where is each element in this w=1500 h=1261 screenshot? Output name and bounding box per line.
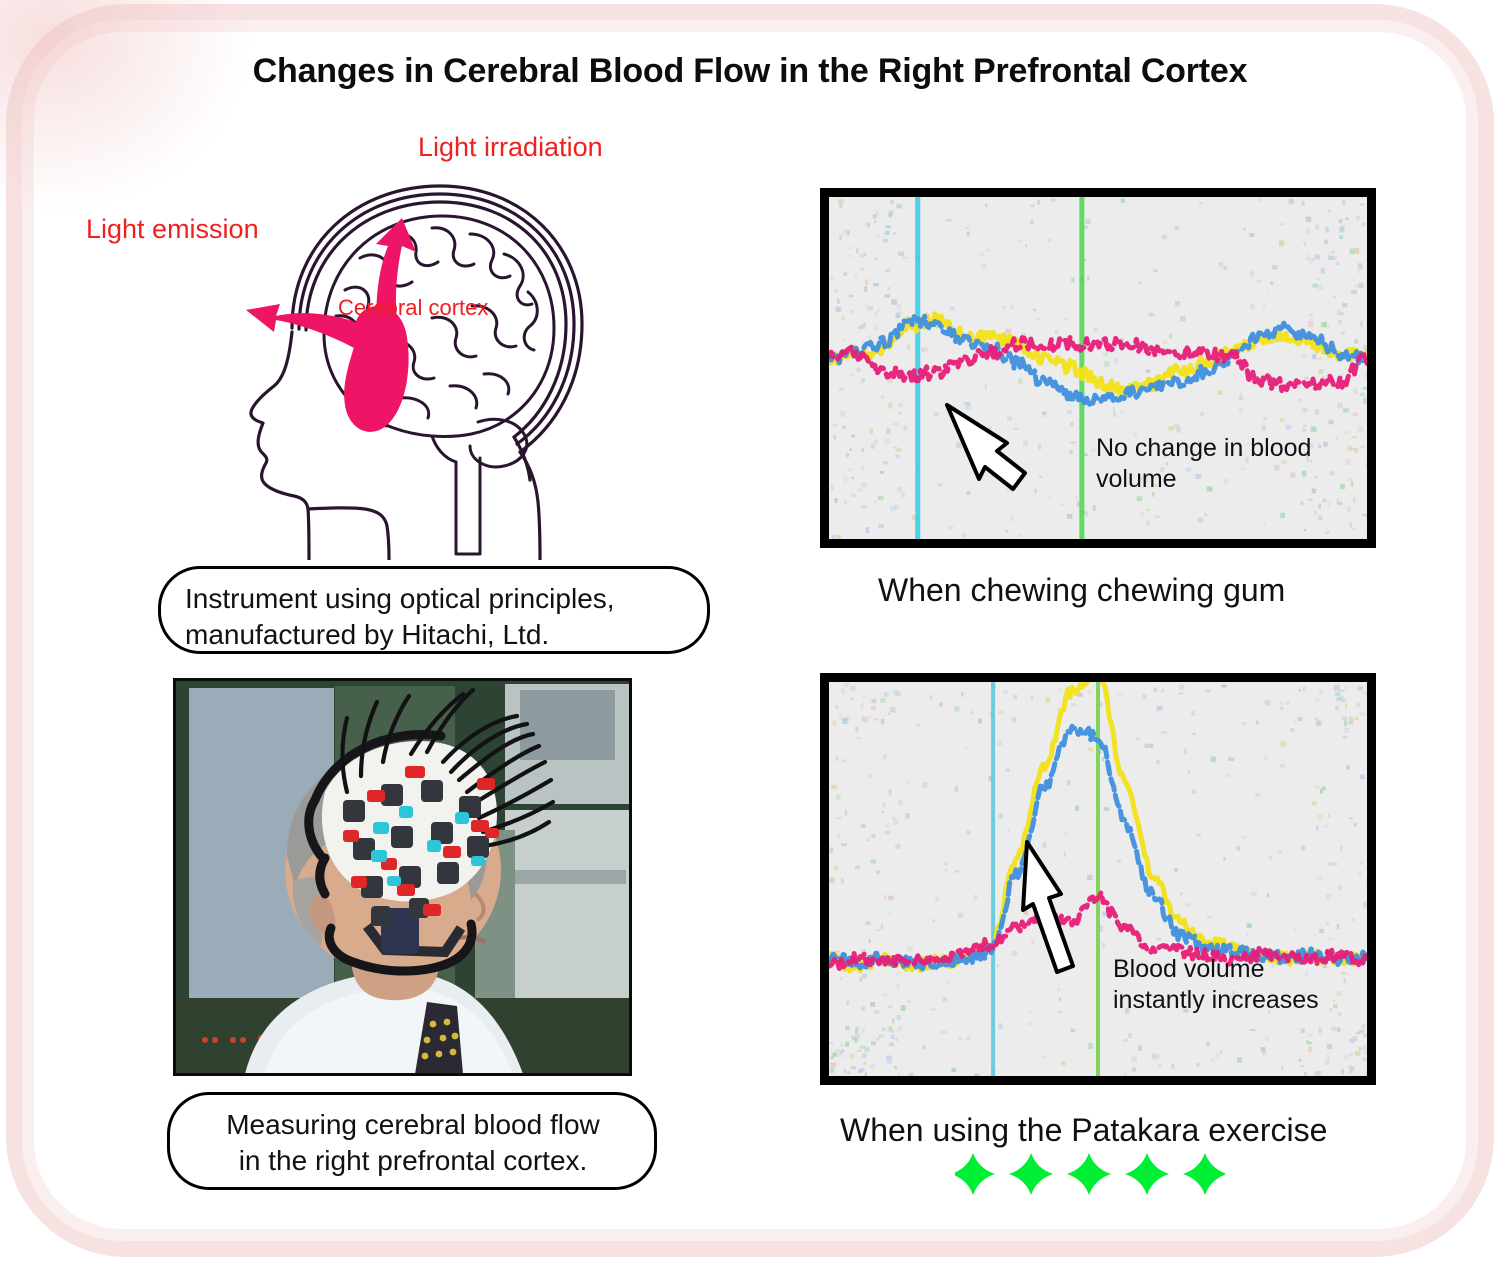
callout-measuring: Measuring cerebral blood flow in the rig… [167,1092,657,1190]
poster-root: Changes in Cerebral Blood Flow in the Ri… [0,0,1500,1261]
callout-measuring-line1: Measuring cerebral blood flow [194,1107,632,1143]
chart-patakara [820,673,1376,1085]
chart-chewing-annotation: No change in blood volume [1096,433,1311,495]
caption-patakara: When using the Patakara exercise [840,1112,1327,1149]
callout-instrument: Instrument using optical principles, man… [158,566,710,654]
callout-instrument-line2: manufactured by Hitachi, Ltd. [185,617,685,653]
sparkle-star-row [955,1152,1225,1198]
label-light-irradiation: Light irradiation [418,132,603,163]
sparkle-star-icon [955,1153,995,1195]
nirs-cap-subject-photo [173,678,632,1076]
sparkle-star-icon [1067,1153,1111,1195]
brain-illustration-svg [60,110,700,560]
brain-diagram: Light irradiation Light emission Cerebra… [60,110,700,560]
sparkle-star-icon [1125,1153,1169,1195]
callout-measuring-line2: in the right prefrontal cortex. [194,1143,632,1179]
sparkle-star-icon [1009,1153,1053,1195]
patakara-nirs-trace-svg [829,682,1367,1076]
label-cerebral-cortex: Cerebral cortex [338,295,488,321]
label-light-emission: Light emission [86,214,259,245]
page-title: Changes in Cerebral Blood Flow in the Ri… [0,52,1500,91]
callout-instrument-line1: Instrument using optical principles, [185,581,685,617]
photo-svg [175,680,630,1074]
sparkle-star-icon [1183,1153,1225,1195]
caption-chewing-gum: When chewing chewing gum [878,572,1285,609]
chart-patakara-annotation: Blood volume instantly increases [1113,954,1319,1016]
